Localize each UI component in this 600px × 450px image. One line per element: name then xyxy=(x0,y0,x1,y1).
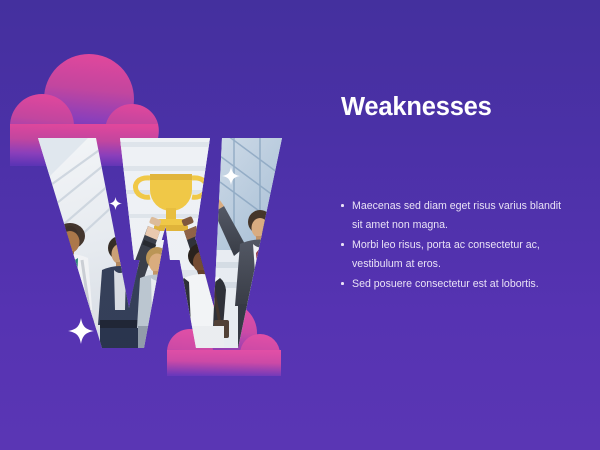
list-item: Sed posuere consectetur est at lobortis. xyxy=(341,275,573,294)
bullet-dot-icon xyxy=(341,282,344,285)
list-item-text: Maecenas sed diam eget risus varius blan… xyxy=(352,200,561,231)
list-item-text: Morbi leo risus, porta ac consectetur ac… xyxy=(352,239,540,270)
page-title: Weaknesses xyxy=(341,92,573,123)
presentation-slide: Weaknesses Maecenas sed diam eget risus … xyxy=(0,0,600,450)
list-item: Maecenas sed diam eget risus varius blan… xyxy=(341,197,573,235)
list-item-text: Sed posuere consectetur est at lobortis. xyxy=(352,278,539,290)
bullet-list: Maecenas sed diam eget risus varius blan… xyxy=(341,197,573,295)
letter-w-photo-collage xyxy=(24,130,309,355)
bullet-dot-icon xyxy=(341,243,344,246)
list-item: Morbi leo risus, porta ac consectetur ac… xyxy=(341,236,573,274)
slide-text-column: Weaknesses Maecenas sed diam eget risus … xyxy=(341,92,573,123)
bullet-dot-icon xyxy=(341,204,344,207)
